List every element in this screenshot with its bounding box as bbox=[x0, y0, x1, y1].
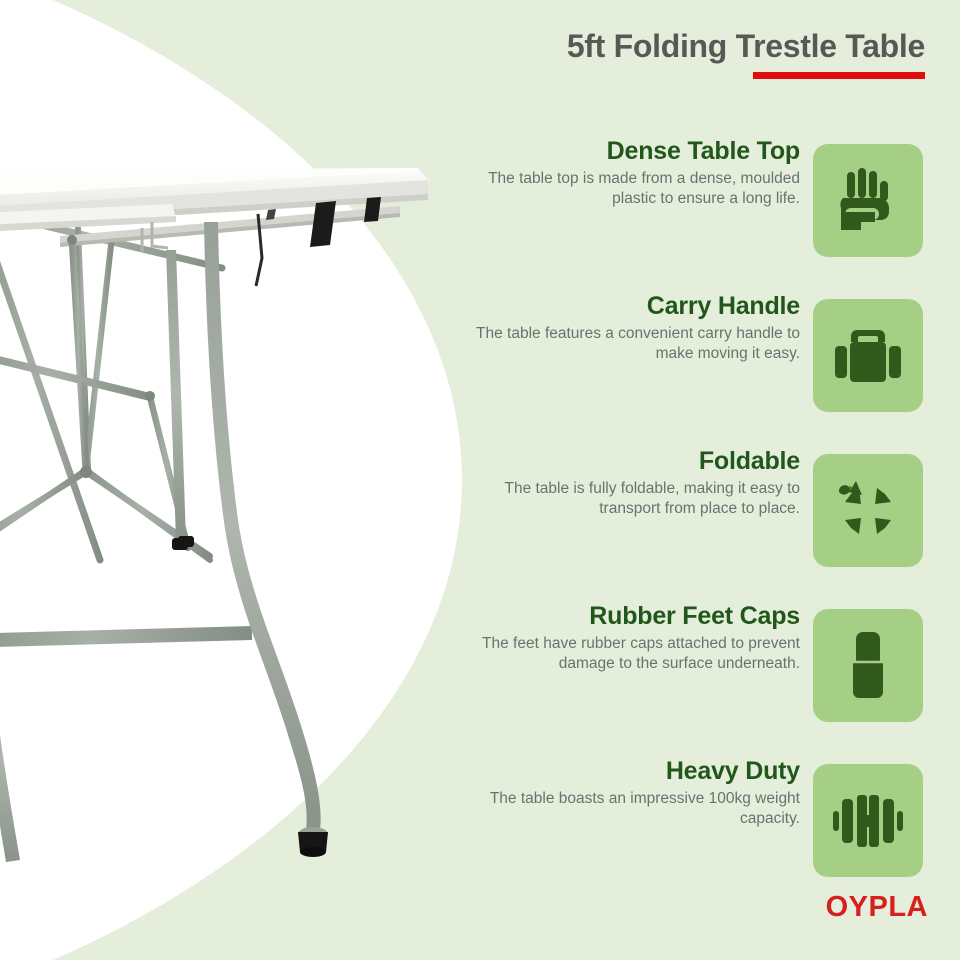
feature-text: Rubber Feet Caps The feet have rubber ca… bbox=[470, 602, 800, 675]
feature-icon-tile bbox=[813, 454, 923, 567]
feature-title: Heavy Duty bbox=[470, 757, 800, 787]
collapse-arrows-icon bbox=[837, 480, 899, 542]
product-photo bbox=[0, 0, 460, 960]
feature-title: Rubber Feet Caps bbox=[470, 602, 800, 632]
feature-text: Carry Handle The table features a conven… bbox=[470, 292, 800, 365]
title-underline bbox=[753, 72, 925, 79]
left-leg bbox=[0, 646, 30, 862]
title-block: 5ft Folding Trestle Table bbox=[462, 28, 925, 79]
brand-logo: OYPLA bbox=[826, 893, 928, 922]
feature-title: Foldable bbox=[470, 447, 800, 477]
lower-cross-bar bbox=[0, 626, 252, 648]
feature-title: Carry Handle bbox=[470, 292, 800, 322]
dumbbell-icon bbox=[833, 795, 903, 847]
rubber-cap-icon bbox=[851, 632, 885, 700]
feature-icon-tile bbox=[813, 764, 923, 877]
feature-description: The table top is made from a dense, moul… bbox=[470, 169, 800, 211]
infographic-canvas: 5ft Folding Trestle Table Dense Table To… bbox=[0, 0, 960, 960]
feature-list: Dense Table Top The table top is made fr… bbox=[462, 130, 960, 905]
feature-description: The table boasts an impressive 100kg wei… bbox=[470, 789, 800, 831]
inner-leg bbox=[166, 250, 188, 550]
feature-icon-tile bbox=[813, 609, 923, 722]
feature-text: Dense Table Top The table top is made fr… bbox=[470, 137, 800, 210]
feature-text: Foldable The table is fully foldable, ma… bbox=[470, 447, 800, 520]
content-column: 5ft Folding Trestle Table Dense Table To… bbox=[462, 0, 960, 960]
feature-item-heavy-duty: Heavy Duty The table boasts an impressiv… bbox=[462, 750, 960, 905]
page-title: 5ft Folding Trestle Table bbox=[462, 28, 925, 65]
rear-foot-cap bbox=[178, 536, 194, 547]
feature-item-dense-table-top: Dense Table Top The table top is made fr… bbox=[462, 130, 960, 285]
feature-icon-tile bbox=[813, 299, 923, 412]
feature-item-rubber-feet-caps: Rubber Feet Caps The feet have rubber ca… bbox=[462, 595, 960, 750]
feature-text: Heavy Duty The table boasts an impressiv… bbox=[470, 757, 800, 830]
carry-bag-icon bbox=[835, 326, 901, 386]
feature-description: The feet have rubber caps attached to pr… bbox=[470, 634, 800, 676]
feature-item-foldable: Foldable The table is fully foldable, ma… bbox=[462, 440, 960, 595]
feature-title: Dense Table Top bbox=[470, 137, 800, 167]
feature-icon-tile bbox=[813, 144, 923, 257]
main-front-leg bbox=[204, 222, 328, 857]
feature-item-carry-handle: Carry Handle The table features a conven… bbox=[462, 285, 960, 440]
raised-fist-icon bbox=[837, 168, 899, 234]
feature-description: The table features a convenient carry ha… bbox=[470, 324, 800, 366]
feature-description: The table is fully foldable, making it e… bbox=[470, 479, 800, 521]
